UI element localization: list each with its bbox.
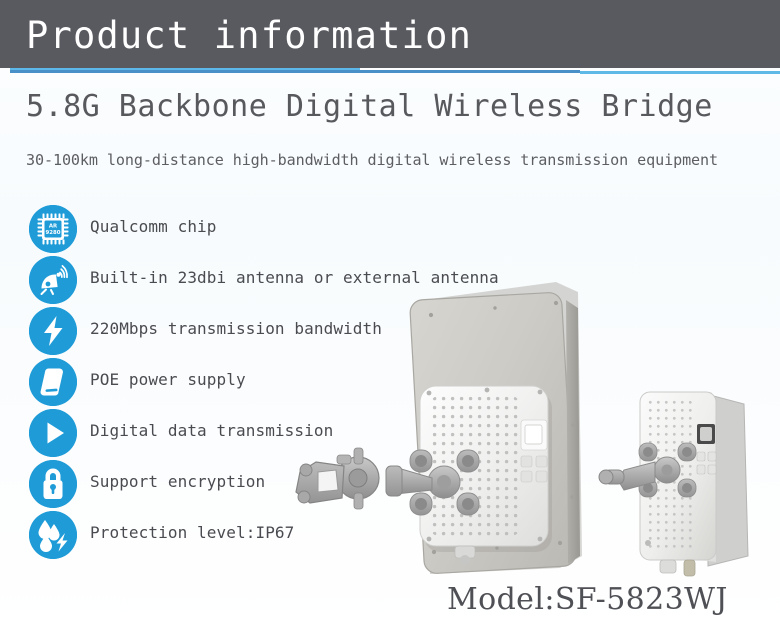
padlock-icon xyxy=(29,460,77,508)
feature-label: Support encryption xyxy=(90,471,265,493)
feature-row: AR 9280 Qualcomm chip xyxy=(0,203,520,254)
feature-row: POE power supply xyxy=(0,356,520,407)
accent-line-mid xyxy=(10,70,580,73)
waterdrop-bolt-icon xyxy=(29,511,77,559)
cpu-chip-icon: AR 9280 xyxy=(29,205,77,253)
svg-text:AR: AR xyxy=(49,224,58,230)
play-triangle-icon xyxy=(29,409,77,457)
satellite-dish-icon xyxy=(29,256,77,304)
product-subtitle: 5.8G Backbone Digital Wireless Bridge xyxy=(26,89,713,125)
svg-text:9280: 9280 xyxy=(45,230,60,236)
feature-list: AR 9280 Qualcomm chip Buil xyxy=(0,203,520,560)
feature-label: Protection level:IP67 xyxy=(90,522,294,544)
feature-row: 220Mbps transmission bandwidth xyxy=(0,305,520,356)
product-tagline: 30-100km long-distance high-bandwidth di… xyxy=(26,150,718,170)
radio-unit-side-graphic xyxy=(599,392,748,576)
model-number: Model:SF-5823WJ xyxy=(447,583,728,617)
feature-label: Digital data transmission xyxy=(90,420,333,442)
lightning-bolt-icon xyxy=(29,307,77,355)
feature-row: Protection level:IP67 xyxy=(0,509,520,560)
page-title: Product information xyxy=(26,16,472,56)
feature-label: POE power supply xyxy=(90,369,246,391)
feature-row: Support encryption xyxy=(0,458,520,509)
accent-line-right xyxy=(580,71,780,74)
feature-row: Built-in 23dbi antenna or external anten… xyxy=(0,254,520,305)
feature-row: Digital data transmission xyxy=(0,407,520,458)
feature-label: Qualcomm chip xyxy=(90,216,217,238)
feature-label: 220Mbps transmission bandwidth xyxy=(90,318,382,340)
product-information-page: Product information 5.8G Backbone Digita… xyxy=(0,0,780,636)
poe-device-icon xyxy=(29,358,77,406)
feature-label: Built-in 23dbi antenna or external anten… xyxy=(90,267,499,289)
